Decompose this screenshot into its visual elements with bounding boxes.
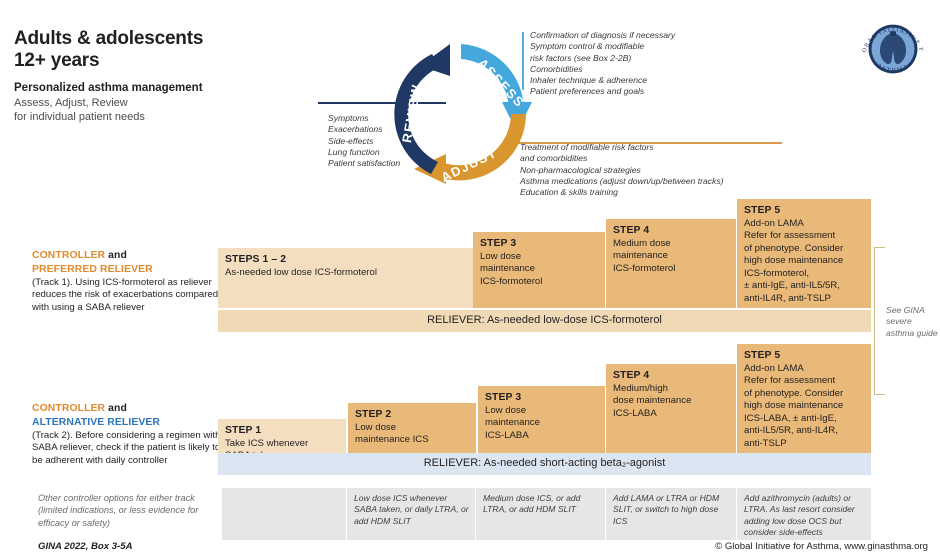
track1-reliever-bar: RELIEVER: As-needed low-dose ICS-formote… — [218, 310, 871, 332]
adjust-item: Treatment of modifiable risk factors — [520, 142, 810, 153]
page-title: Adults & adolescents 12+ years — [14, 28, 314, 72]
page-subtext: Assess, Adjust, Review for individual pa… — [14, 96, 314, 124]
track2-reliever-word: ALTERNATIVE RELIEVER — [32, 416, 230, 430]
track2-label-heading: CONTROLLER and — [32, 402, 230, 416]
track1-step-1-2-body: As-needed low dose ICS-formoterol — [225, 267, 466, 279]
other-option-cell-step4: Add LAMA or LTRA or HDM SLIT, or switch … — [606, 488, 736, 540]
other-option-cell-step1 — [222, 488, 346, 540]
adjust-item: and comorbidities — [520, 153, 810, 164]
track2-controller-word: CONTROLLER — [32, 403, 105, 414]
track1-and-word: and — [105, 250, 127, 261]
assess-item: Comorbidities — [530, 64, 770, 75]
adjust-item: Education & skills training — [520, 187, 810, 198]
review-item: Side-effects — [328, 136, 438, 147]
review-item: Patient satisfaction — [328, 158, 438, 169]
track2-step-3-body: Low dose maintenance ICS-LABA — [485, 405, 598, 442]
other-controller-options-label: Other controller options for either trac… — [38, 492, 223, 529]
track2-reliever-text: RELIEVER: As-needed short-acting beta₂-a… — [424, 457, 666, 469]
track2-reliever-bar: RELIEVER: As-needed short-acting beta₂-a… — [218, 453, 871, 475]
track2-step-1-name: STEP 1 — [225, 424, 339, 438]
track2-label-body: (Track 2). Before considering a regimen … — [32, 430, 230, 468]
other-option-cell-step3: Medium dose ICS, or add LTRA, or add HDM… — [476, 488, 605, 540]
track2-step-4-name: STEP 4 — [613, 369, 729, 383]
severe-asthma-bracket-text: See GINA severe asthma guide — [886, 305, 940, 339]
track2-step-5[interactable]: STEP 5 Add-on LAMA Refer for assessment … — [737, 344, 871, 461]
assess-adjust-review-cycle: ASSESS ADJUST REVIEW Confirmation of dia… — [318, 18, 888, 196]
track1-label-heading: CONTROLLER and — [32, 249, 230, 263]
track1-step-4-body: Medium dose maintenance ICS-formoterol — [613, 238, 729, 275]
assess-item: Confirmation of diagnosis if necessary — [530, 30, 770, 41]
other-option-cell-step5: Add azithromycin (adults) or LTRA. As la… — [737, 488, 871, 540]
track2-step-4[interactable]: STEP 4 Medium/high dose maintenance ICS-… — [606, 364, 736, 461]
track1-step-4[interactable]: STEP 4 Medium dose maintenance ICS-formo… — [606, 219, 736, 308]
page-subtext-line2: for individual patient needs — [14, 110, 314, 124]
track1-step-5-name: STEP 5 — [744, 204, 864, 218]
review-items: Symptoms Exacerbations Side-effects Lung… — [328, 113, 438, 169]
track2-and-word: and — [105, 403, 127, 414]
track1-step-3-name: STEP 3 — [480, 237, 598, 251]
assess-item: Inhaler technique & adherence — [530, 75, 770, 86]
track1-label-body: (Track 1). Using ICS-formoterol as relie… — [32, 277, 230, 315]
adjust-item: Non-pharmacological strategies — [520, 165, 810, 176]
page-subtitle: Personalized asthma management — [14, 81, 314, 95]
track1-step-3[interactable]: STEP 3 Low dose maintenance ICS-formoter… — [473, 232, 605, 308]
page-title-line1: Adults & adolescents — [14, 28, 314, 50]
track2-label: CONTROLLER and ALTERNATIVE RELIEVER (Tra… — [32, 402, 230, 468]
track2-step-5-name: STEP 5 — [744, 349, 864, 363]
track2-step-5-body: Add-on LAMA Refer for assessment of phen… — [744, 363, 864, 450]
page-title-line2: 12+ years — [14, 50, 314, 72]
track1-step-4-name: STEP 4 — [613, 224, 729, 238]
review-item: Lung function — [328, 147, 438, 158]
track2-step-4-body: Medium/high dose maintenance ICS-LABA — [613, 383, 729, 420]
review-item: Exacerbations — [328, 124, 438, 135]
severe-asthma-bracket — [874, 247, 885, 395]
review-item: Symptoms — [328, 113, 438, 124]
assess-item: risk factors (see Box 2-2B) — [530, 53, 770, 64]
track1-step-1-2-name: STEPS 1 – 2 — [225, 253, 466, 267]
track1-controller-word: CONTROLLER — [32, 250, 105, 261]
footer-copyright: © Global Initiative for Asthma, www.gina… — [715, 541, 928, 552]
track2-step-3[interactable]: STEP 3 Low dose maintenance ICS-LABA — [478, 386, 605, 461]
track1-step-5[interactable]: STEP 5 Add-on LAMA Refer for assessment … — [737, 199, 871, 308]
assess-items: Confirmation of diagnosis if necessary S… — [530, 30, 770, 98]
other-option-cell-step2: Low dose ICS whenever SABA taken, or dai… — [347, 488, 475, 540]
track1-step-1-2[interactable]: STEPS 1 – 2 As-needed low dose ICS-formo… — [218, 248, 473, 308]
assess-item: Patient preferences and goals — [530, 86, 770, 97]
track1-reliever-word: PREFERRED RELIEVER — [32, 263, 230, 277]
track1-step-3-body: Low dose maintenance ICS-formoterol — [480, 251, 598, 288]
track1-step-5-body: Add-on LAMA Refer for assessment of phen… — [744, 218, 864, 305]
track1-reliever-text: RELIEVER: As-needed low-dose ICS-formote… — [427, 314, 662, 326]
footer-source: GINA 2022, Box 3-5A — [38, 541, 133, 552]
adjust-item: Asthma medications (adjust down/up/betwe… — [520, 176, 810, 187]
page-title-block: Adults & adolescents 12+ years Personali… — [14, 28, 314, 124]
track2-step-2-body: Low dose maintenance ICS — [355, 422, 469, 447]
assess-item: Symptom control & modifiable — [530, 41, 770, 52]
adjust-items: Treatment of modifiable risk factors and… — [520, 142, 810, 198]
track1-label: CONTROLLER and PREFERRED RELIEVER (Track… — [32, 249, 230, 315]
track2-step-2-name: STEP 2 — [355, 408, 469, 422]
track2-step-3-name: STEP 3 — [485, 391, 598, 405]
page-subtext-line1: Assess, Adjust, Review — [14, 96, 314, 110]
